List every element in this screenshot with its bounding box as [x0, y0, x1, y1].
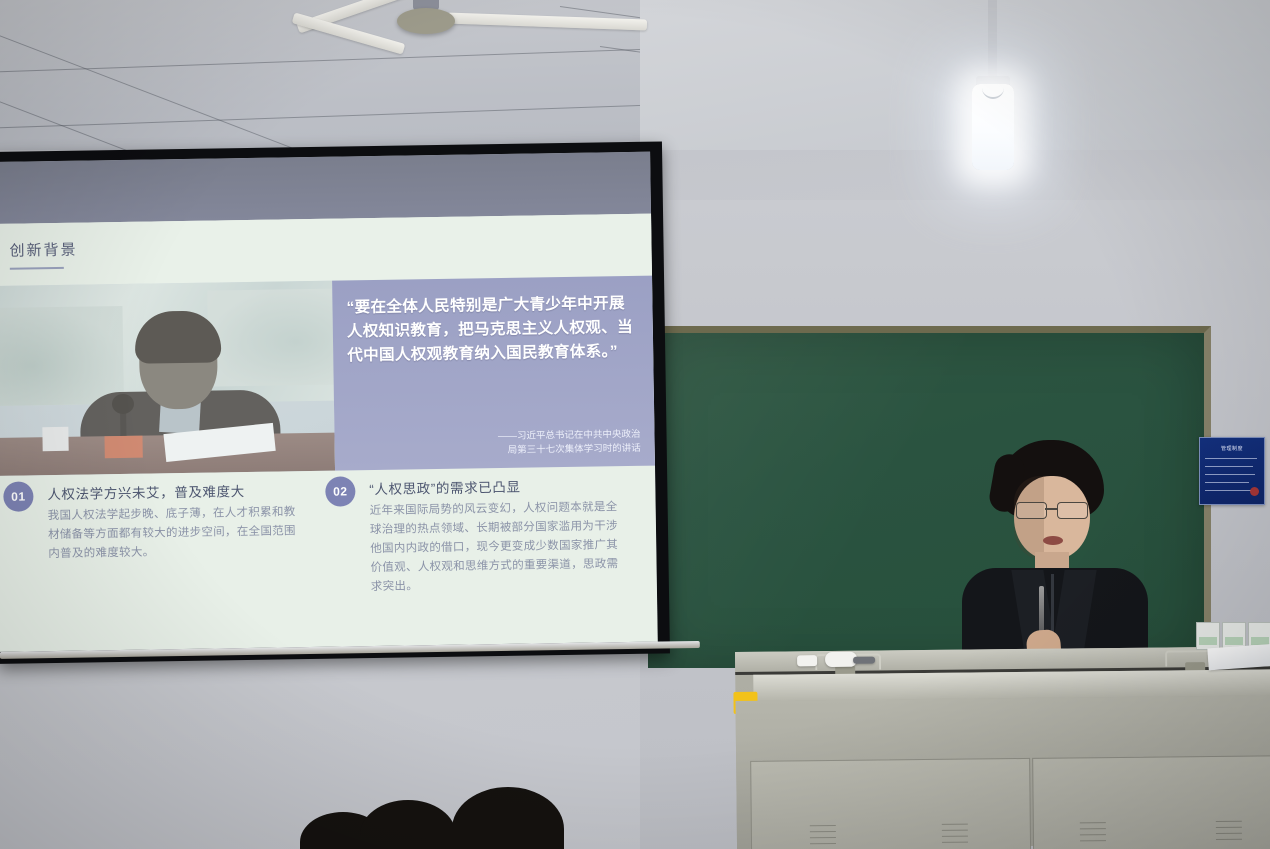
- teaching-podium: [735, 646, 1270, 849]
- eyeglasses-icon: [1016, 502, 1088, 517]
- quote-text: “要在全体人民特别是广大青少年中开展人权知识教育，把马克思主义人权观、当代中国人…: [346, 292, 639, 369]
- mural-hill: [207, 288, 335, 387]
- slide-title: 创新背景: [9, 239, 77, 261]
- slide-top-band: [0, 152, 651, 224]
- lamp-rod: [988, 0, 997, 82]
- quote-source: ——习近平总书记在中共中央政治 局第三十七次集体学习时的讲话: [440, 427, 640, 459]
- presentation-slide: 创新背景: [0, 214, 658, 652]
- bullet-body: 近年来国际局势的风云变幻，人权问题本就是全球治理的热点领域、长期被部分国家滥用为…: [370, 498, 629, 597]
- podium-front: [736, 695, 1270, 849]
- fluorescent-lamp-icon: [960, 0, 1030, 180]
- podium-cabinet-door[interactable]: [750, 758, 1031, 849]
- title-underline: [10, 267, 64, 270]
- remote-control[interactable]: [797, 655, 817, 666]
- projection-screen: 创新背景: [0, 141, 680, 672]
- lens-left: [1016, 502, 1047, 519]
- quote-source-line-2: 局第三十七次集体学习时的讲话: [441, 442, 641, 459]
- screen-surface: 创新背景: [0, 152, 658, 652]
- lens-right: [1057, 502, 1088, 519]
- slide-bullets: 01 人权法学方兴未艾，普及难度大 我国人权法学起步晚、底子薄，在人才积累和教材…: [0, 466, 658, 652]
- glasses-bridge: [1045, 508, 1057, 510]
- bullet-heading: 人权法学方兴未艾，普及难度大: [47, 480, 245, 503]
- slide-photo: [0, 281, 335, 476]
- red-seal-icon: [1250, 487, 1259, 496]
- notice-title: 管理制度: [1200, 445, 1264, 452]
- ceiling-fan-icon: [355, 0, 655, 64]
- classroom-photo: 管理制度 创新背景: [0, 0, 1270, 849]
- bullet-heading: “人权思政”的需求已凸显: [369, 476, 520, 498]
- fan-hub: [397, 8, 455, 34]
- slide-quote-panel: “要在全体人民特别是广大青少年中开展人权知识教育，把马克思主义人权观、当代中国人…: [332, 276, 655, 471]
- lecturer: [940, 440, 1170, 670]
- marker[interactable]: [853, 657, 875, 664]
- podium-cabinet-door[interactable]: [1032, 755, 1270, 849]
- mural-hill: [0, 306, 124, 406]
- bullet-number-badge: 01: [3, 481, 33, 511]
- notice-board: 管理制度: [1199, 437, 1265, 505]
- bullet-body: 我国人权法学起步晚、底子薄，在人才积累和教材储备等方面都有较大的进步空间，在全国…: [48, 503, 307, 564]
- stack-of-papers: [1207, 644, 1270, 671]
- bullet-number-badge: 02: [325, 476, 355, 506]
- photo-cup: [42, 427, 68, 451]
- photo-nameplate: [104, 436, 142, 459]
- fan-blade: [447, 13, 647, 31]
- slide-title-bar: 创新背景: [0, 214, 652, 286]
- mouth: [1043, 536, 1063, 545]
